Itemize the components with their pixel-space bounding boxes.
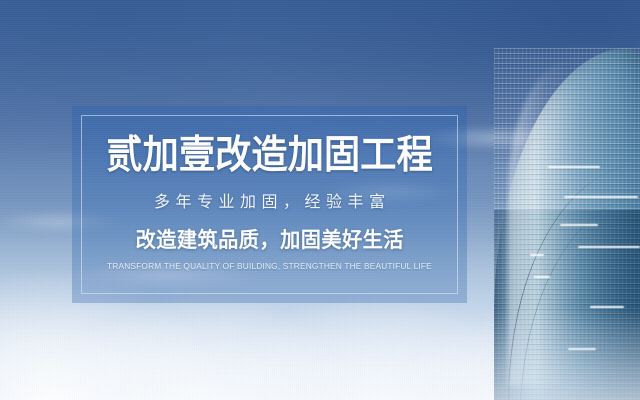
banner-tagline: 多年专业加固，经验丰富	[148, 195, 390, 211]
window-glint	[530, 254, 544, 256]
banner-slogan: 改造建筑品质，加固美好生活	[135, 230, 403, 251]
skyscraper-image	[494, 48, 640, 400]
window-glint	[534, 276, 550, 278]
banner-slogan-english: TRANSFORM THE QUALITY OF BUILDING, STREN…	[107, 262, 432, 271]
banner-headline: 贰加壹改造加固工程	[106, 136, 432, 175]
window-glint	[560, 224, 598, 226]
window-glint	[548, 166, 600, 168]
window-glint	[564, 196, 638, 198]
tower-body	[494, 48, 640, 400]
tower-atmospheric-haze	[494, 308, 640, 400]
window-glint	[578, 246, 640, 248]
hero-banner: 贰加壹改造加固工程 多年专业加固，经验丰富 改造建筑品质，加固美好生活 TRAN…	[0, 0, 640, 400]
text-overlay-panel: 贰加壹改造加固工程 多年专业加固，经验丰富 改造建筑品质，加固美好生活 TRAN…	[72, 106, 467, 303]
panel-content: 贰加壹改造加固工程 多年专业加固，经验丰富 改造建筑品质，加固美好生活 TRAN…	[72, 106, 467, 303]
